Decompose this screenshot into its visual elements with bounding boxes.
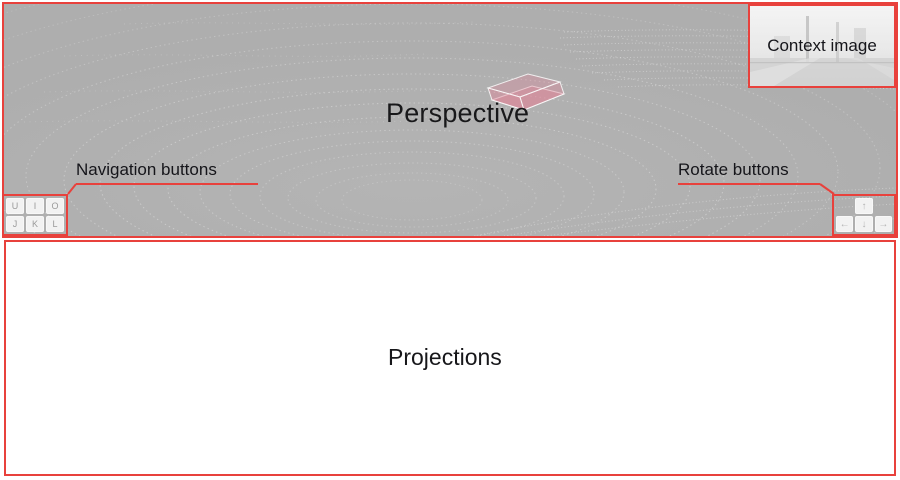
- arrow-right-icon[interactable]: →: [875, 216, 892, 232]
- key-j[interactable]: J: [6, 216, 24, 232]
- navigation-label-underline: [76, 183, 258, 185]
- navigation-buttons-label: Navigation buttons: [76, 160, 217, 180]
- key-spacer-left: [836, 198, 853, 214]
- annotation-tool-screenshot: Perspective Context image U: [0, 0, 900, 480]
- context-image-label: Context image: [750, 6, 894, 86]
- key-k[interactable]: K: [26, 216, 44, 232]
- key-u[interactable]: U: [6, 198, 24, 214]
- arrow-up-icon[interactable]: ↑: [855, 198, 872, 214]
- rotate-buttons-label: Rotate buttons: [678, 160, 789, 180]
- key-spacer-right: [875, 198, 892, 214]
- perspective-label: Perspective: [386, 98, 529, 129]
- rotate-label-underline: [678, 183, 820, 185]
- arrow-left-icon[interactable]: ←: [836, 216, 853, 232]
- arrow-down-icon[interactable]: ↓: [855, 216, 872, 232]
- key-i[interactable]: I: [26, 198, 44, 214]
- context-image-panel[interactable]: Context image: [748, 4, 896, 88]
- rotate-buttons-cluster[interactable]: ↑ ← ↓ →: [832, 194, 896, 236]
- navigation-buttons-cluster[interactable]: U I O J K L: [2, 194, 68, 236]
- key-o[interactable]: O: [46, 198, 64, 214]
- key-l[interactable]: L: [46, 216, 64, 232]
- projections-label: Projections: [388, 344, 502, 371]
